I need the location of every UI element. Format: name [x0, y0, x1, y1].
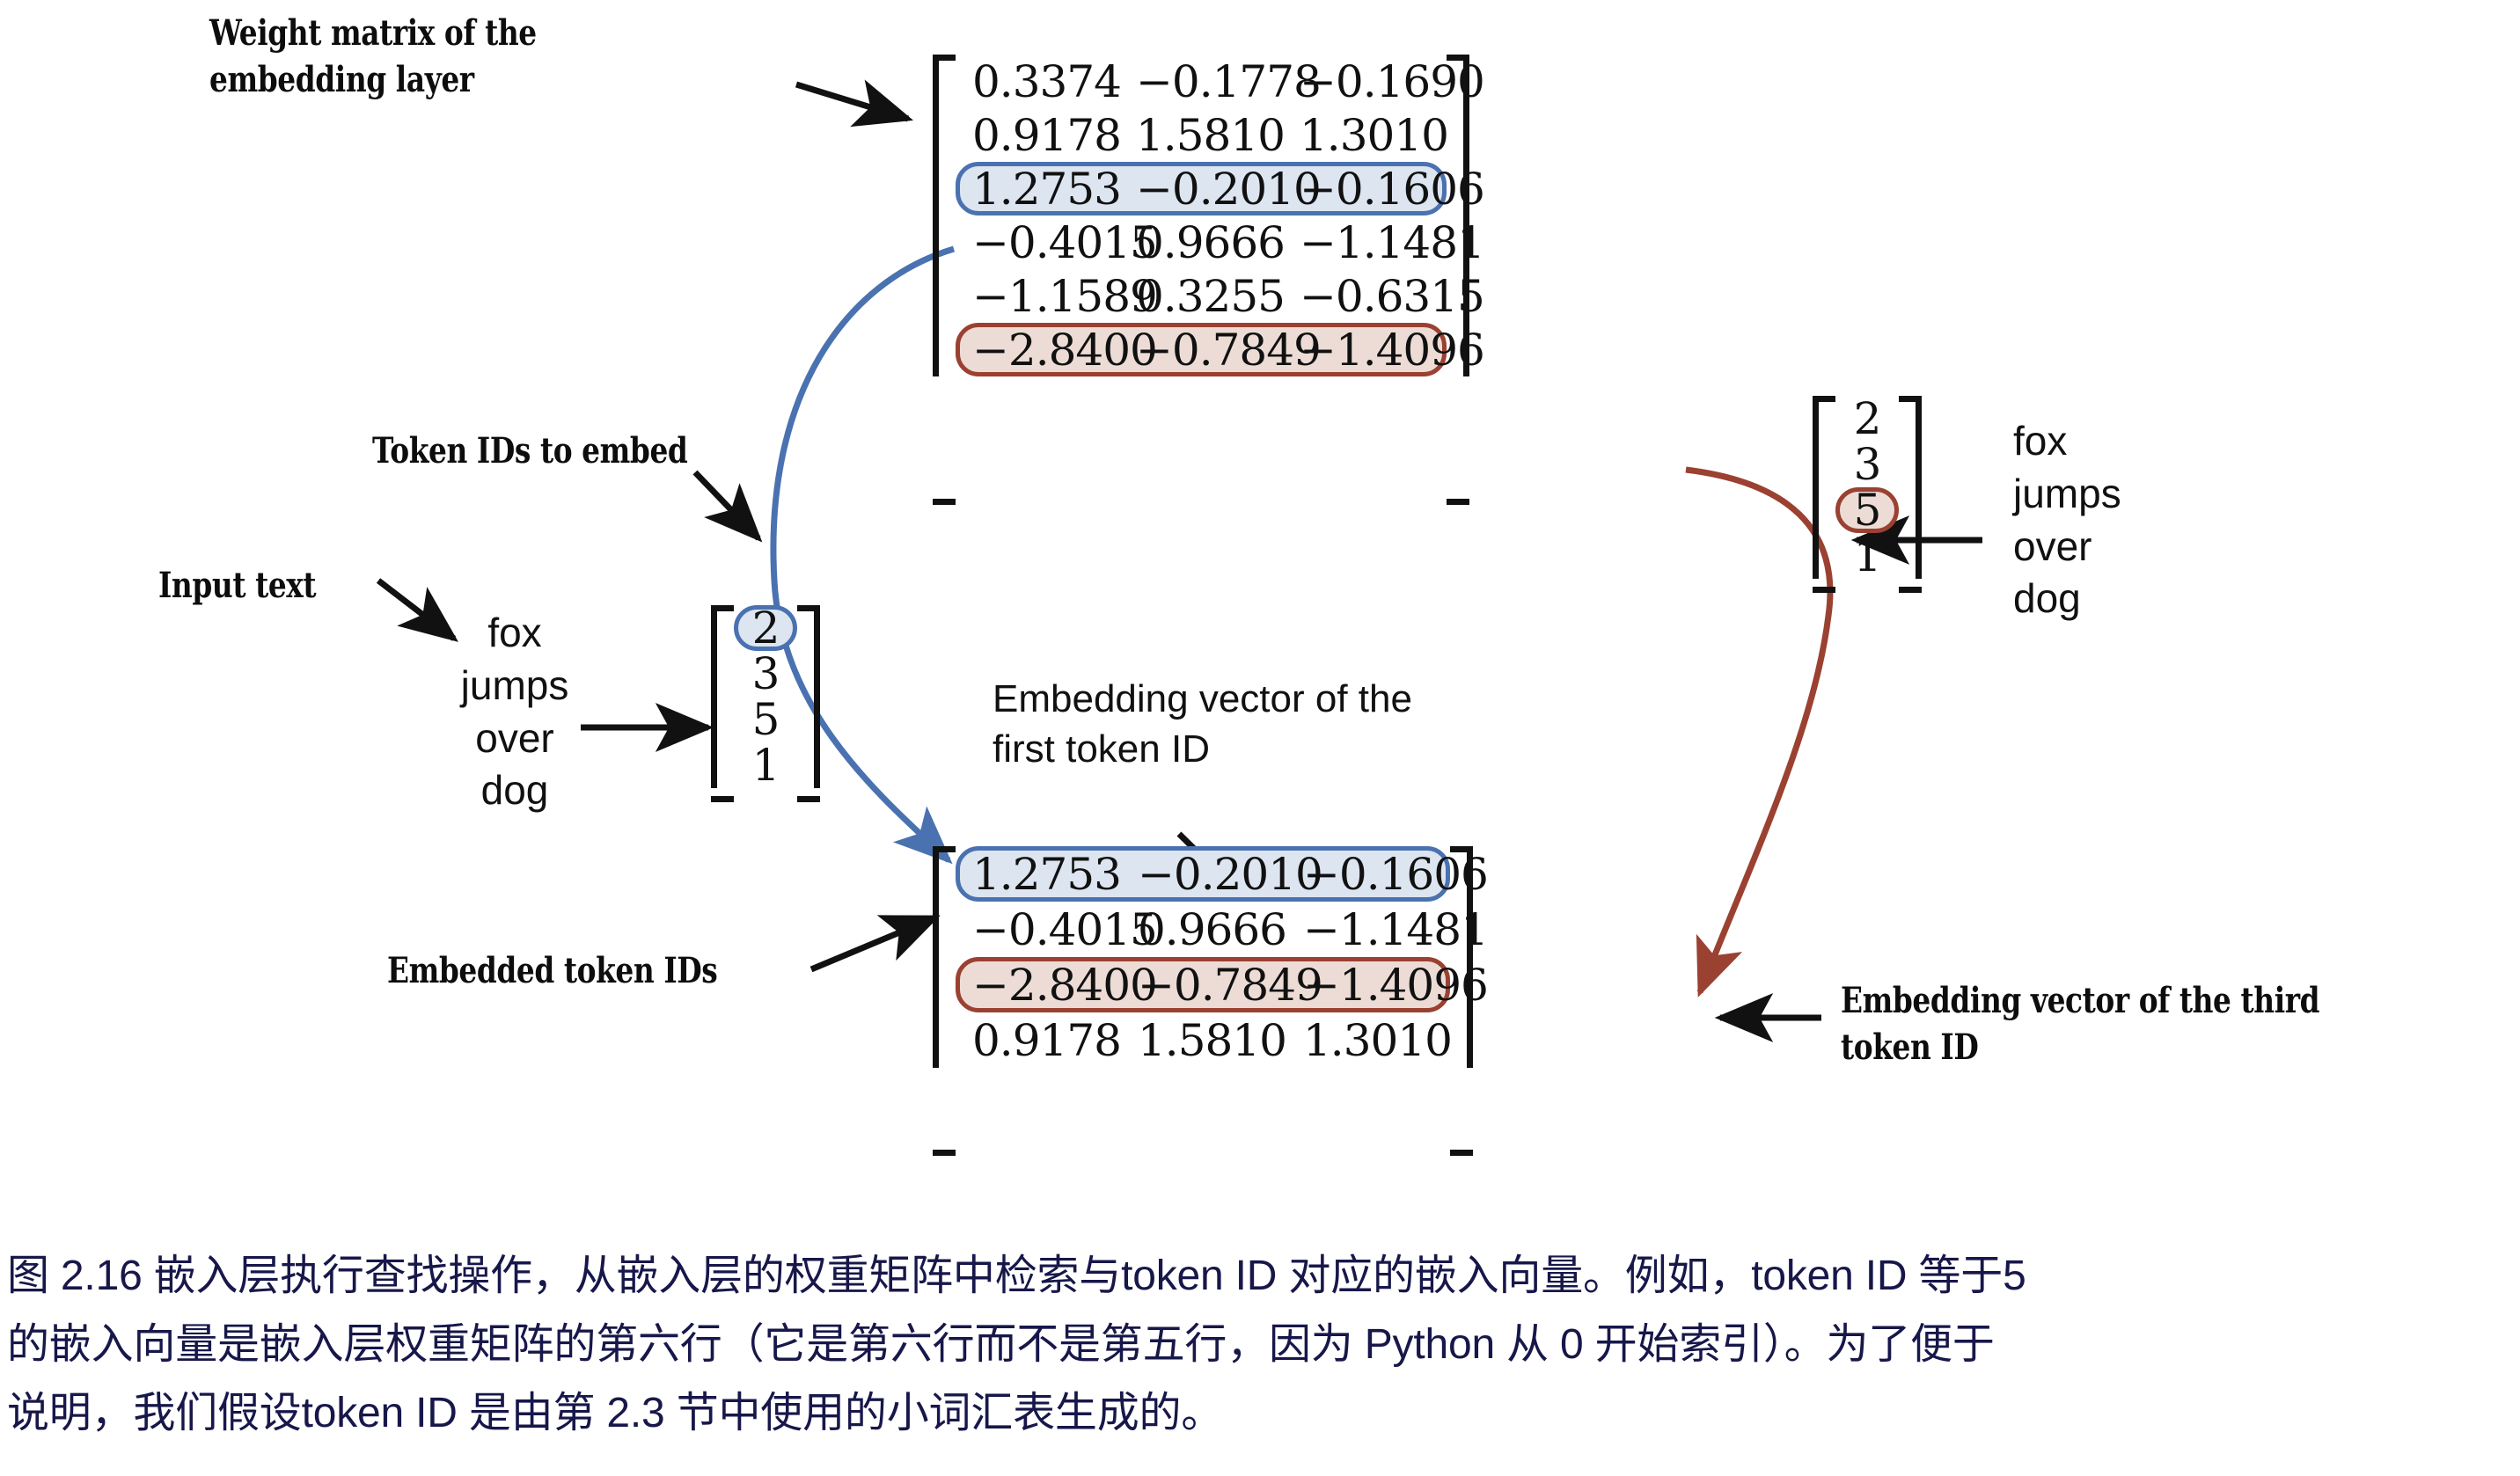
token-row-right-3: 1 [1835, 533, 1899, 579]
bracket-left [711, 605, 734, 788]
weight-cell-3-1: 0.9666 [1136, 217, 1266, 268]
embedded-cell-2-0: −2.8400 [972, 960, 1102, 1011]
embedded-cell-2-2: −1.4096 [1303, 960, 1433, 1011]
caption-line-0: 图 2.16 嵌入层执行查找操作，从嵌入层的权重矩阵中检索与token ID 对… [7, 1242, 2515, 1311]
arrow-token-ids-to-embed [695, 472, 758, 538]
output-word-0: fox [2013, 415, 2242, 468]
token-row-left-3: 1 [734, 742, 797, 788]
output-word-2: over [2013, 521, 2242, 574]
label-embedded-token-ids-text: Embedded token IDs [387, 948, 717, 995]
embedded-matrix: 1.2753 −0.2010 −0.1606 −0.4015 0.9666 −1… [933, 846, 1473, 1068]
weight-matrix-row-0: 0.3374 −0.1778 −0.1690 [956, 55, 1447, 108]
weight-cell-1-2: 1.3010 [1300, 110, 1430, 161]
weight-cell-3-0: −0.4015 [972, 217, 1102, 268]
label-weight-matrix-line2: embedding layer [209, 57, 537, 104]
weight-matrix-row-3: −0.4015 0.9666 −1.1481 [956, 216, 1447, 269]
input-word-0: fox [431, 607, 598, 660]
curve-red-lookup [1686, 470, 1830, 992]
bracket-right [1899, 396, 1922, 579]
weight-matrix-row-2: 1.2753 −0.2010 −0.1606 [956, 162, 1447, 216]
embedded-cell-3-2: 1.3010 [1303, 1015, 1433, 1066]
token-rows-right: 2 3 5 1 [1835, 396, 1899, 579]
embedded-matrix-row-1: −0.4015 0.9666 −1.1481 [956, 902, 1450, 957]
figure-caption: 图 2.16 嵌入层执行查找操作，从嵌入层的权重矩阵中检索与token ID 对… [7, 1242, 2515, 1447]
label-weight-matrix-line1: Weight matrix of the [209, 11, 537, 57]
arrow-weight-matrix [796, 84, 908, 119]
embedding-lookup-diagram: Weight matrix of the embedding layer Tok… [0, 0, 2520, 1231]
token-id-column-right: 2 3 5 1 [1813, 396, 1922, 579]
label-embedding-vector-third: Embedding vector of the third token ID [1841, 978, 2319, 1071]
caption-line-2: 说明，我们假设token ID 是由第 2.3 节中使用的小词汇表生成的。 [7, 1379, 2515, 1448]
weight-cell-2-0: 1.2753 [972, 164, 1102, 215]
input-word-2: over [431, 712, 598, 765]
bracket-left [933, 55, 956, 376]
token-value-right-2: 5 [1849, 485, 1886, 536]
bracket-right [797, 605, 820, 788]
label-input-text: Input text [158, 563, 316, 610]
weight-cell-0-1: −0.1778 [1136, 56, 1266, 107]
label-embedded-token-ids: Embedded token IDs [387, 948, 717, 995]
weight-cell-4-0: −1.1589 [972, 271, 1102, 322]
weight-cell-1-1: 1.5810 [1136, 110, 1266, 161]
token-value-left-2: 5 [747, 694, 784, 745]
token-row-left-2: 5 [734, 697, 797, 742]
token-value-left-3: 1 [747, 740, 784, 791]
weight-cell-5-1: −0.7849 [1136, 325, 1266, 376]
embedded-matrix-rows: 1.2753 −0.2010 −0.1606 −0.4015 0.9666 −1… [956, 846, 1450, 1068]
weight-cell-0-2: −0.1690 [1300, 56, 1430, 107]
caption-line-1: 的嵌入向量是嵌入层权重矩阵的第六行（它是第六行而不是第五行，因为 Python … [7, 1311, 2515, 1379]
label-input-text-text: Input text [158, 563, 316, 610]
embedded-cell-3-1: 1.5810 [1138, 1015, 1268, 1066]
label-token-ids-to-embed: Token IDs to embed [372, 428, 687, 475]
token-rows-left: 2 3 5 1 [734, 605, 797, 788]
label-embedding-vector-third-line1: Embedding vector of the third [1841, 978, 2319, 1025]
input-word-1: jumps [431, 660, 598, 712]
weight-cell-0-0: 0.3374 [972, 56, 1102, 107]
input-word-3: dog [431, 764, 598, 817]
weight-cell-2-1: −0.2010 [1136, 164, 1266, 215]
embedded-cell-0-0: 1.2753 [972, 849, 1102, 900]
token-value-left-1: 3 [747, 648, 784, 699]
weight-cell-3-2: −1.1481 [1300, 217, 1430, 268]
label-weight-matrix: Weight matrix of the embedding layer [209, 11, 537, 104]
label-embedding-vector-first-line2: first token ID [993, 724, 1412, 774]
weight-matrix: 0.3374 −0.1778 −0.1690 0.9178 1.5810 1.3… [933, 55, 1469, 376]
token-row-right-1: 3 [1835, 442, 1899, 487]
token-value-right-3: 1 [1849, 530, 1886, 581]
bracket-left [933, 846, 956, 1068]
embedded-matrix-row-0: 1.2753 −0.2010 −0.1606 [956, 846, 1450, 902]
token-value-right-1: 3 [1849, 439, 1886, 490]
token-row-right-0: 2 [1835, 396, 1899, 442]
weight-cell-5-2: −1.4096 [1300, 325, 1430, 376]
embedded-matrix-row-2: −2.8400 −0.7849 −1.4096 [956, 957, 1450, 1012]
token-value-left-0: 2 [747, 603, 784, 654]
embedded-cell-1-1: 0.9666 [1138, 904, 1268, 955]
weight-cell-2-2: −0.1606 [1300, 164, 1430, 215]
output-word-3: dog [2013, 573, 2242, 625]
token-row-left-1: 3 [734, 651, 797, 697]
label-embedding-vector-third-line2: token ID [1841, 1025, 2319, 1071]
output-word-1: jumps [2013, 468, 2242, 521]
embedded-cell-2-1: −0.7849 [1138, 960, 1268, 1011]
token-value-right-0: 2 [1849, 393, 1886, 444]
weight-cell-4-1: 0.3255 [1136, 271, 1266, 322]
token-id-column-left: 2 3 5 1 [711, 605, 820, 788]
token-row-left-0: 2 [734, 605, 797, 651]
embedded-cell-1-0: −0.4015 [972, 904, 1102, 955]
token-row-right-2: 5 [1835, 487, 1899, 533]
embedded-cell-1-2: −1.1481 [1303, 904, 1433, 955]
weight-cell-5-0: −2.8400 [972, 325, 1102, 376]
embedded-cell-0-2: −0.1606 [1303, 849, 1433, 900]
label-embedding-vector-first: Embedding vector of the first token ID [993, 674, 1412, 774]
embedded-cell-0-1: −0.2010 [1138, 849, 1268, 900]
arrow-embedded-token-ids [811, 917, 935, 969]
weight-cell-4-2: −0.6315 [1300, 271, 1430, 322]
label-token-ids-to-embed-text: Token IDs to embed [372, 428, 687, 475]
bracket-left [1813, 396, 1835, 579]
bracket-right [1450, 846, 1473, 1068]
bracket-right [1447, 55, 1469, 376]
input-words-list: fox jumps over dog [431, 607, 598, 817]
weight-matrix-row-5: −2.8400 −0.7849 −1.4096 [956, 323, 1447, 376]
output-words-list: fox jumps over dog [2013, 415, 2242, 625]
embedded-cell-3-0: 0.9178 [972, 1015, 1102, 1066]
weight-cell-1-0: 0.9178 [972, 110, 1102, 161]
weight-matrix-row-1: 0.9178 1.5810 1.3010 [956, 108, 1447, 162]
weight-matrix-row-4: −1.1589 0.3255 −0.6315 [956, 269, 1447, 323]
embedded-matrix-row-3: 0.9178 1.5810 1.3010 [956, 1012, 1450, 1068]
weight-matrix-rows: 0.3374 −0.1778 −0.1690 0.9178 1.5810 1.3… [956, 55, 1447, 376]
label-embedding-vector-first-line1: Embedding vector of the [993, 674, 1412, 724]
